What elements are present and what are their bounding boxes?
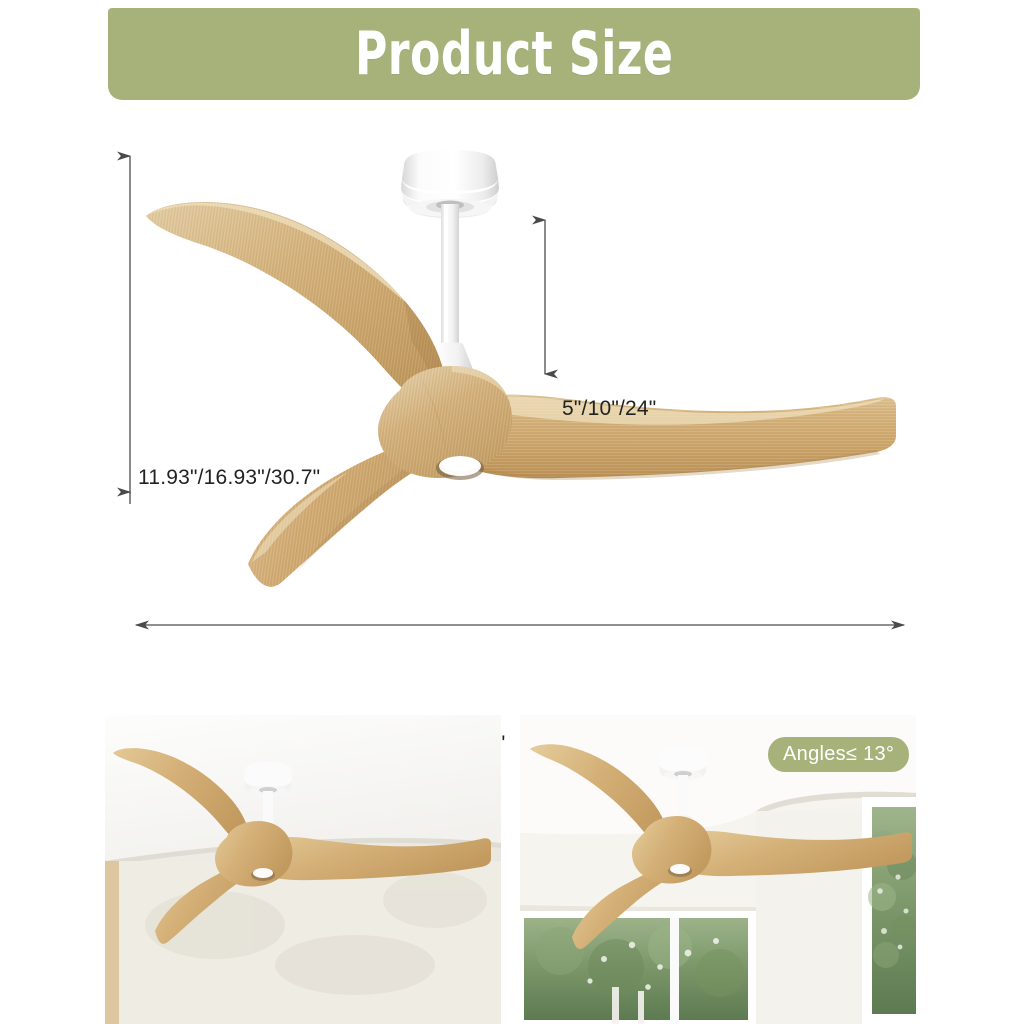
- page-title: Product Size: [355, 24, 673, 84]
- led-light-lens: [436, 456, 484, 480]
- dimension-label-drop-height: 11.93"/16.93"/30.7": [138, 466, 320, 490]
- page-header-banner: Product Size: [108, 8, 920, 100]
- angles-badge: Angles≤ 13°: [768, 737, 909, 772]
- fan-diagram-svg: [0, 104, 1024, 704]
- dimension-label-downrod: 5"/10"/24": [562, 397, 656, 421]
- lifestyle-photo-bedroom: [105, 715, 501, 1024]
- downrod: [441, 204, 459, 354]
- product-dimension-diagram: 11.93"/16.93"/30.7" 5"/10"/24" 52": [0, 104, 1024, 704]
- photo-left-svg: [105, 715, 501, 1024]
- product-size-infographic: Product Size: [0, 0, 1024, 1024]
